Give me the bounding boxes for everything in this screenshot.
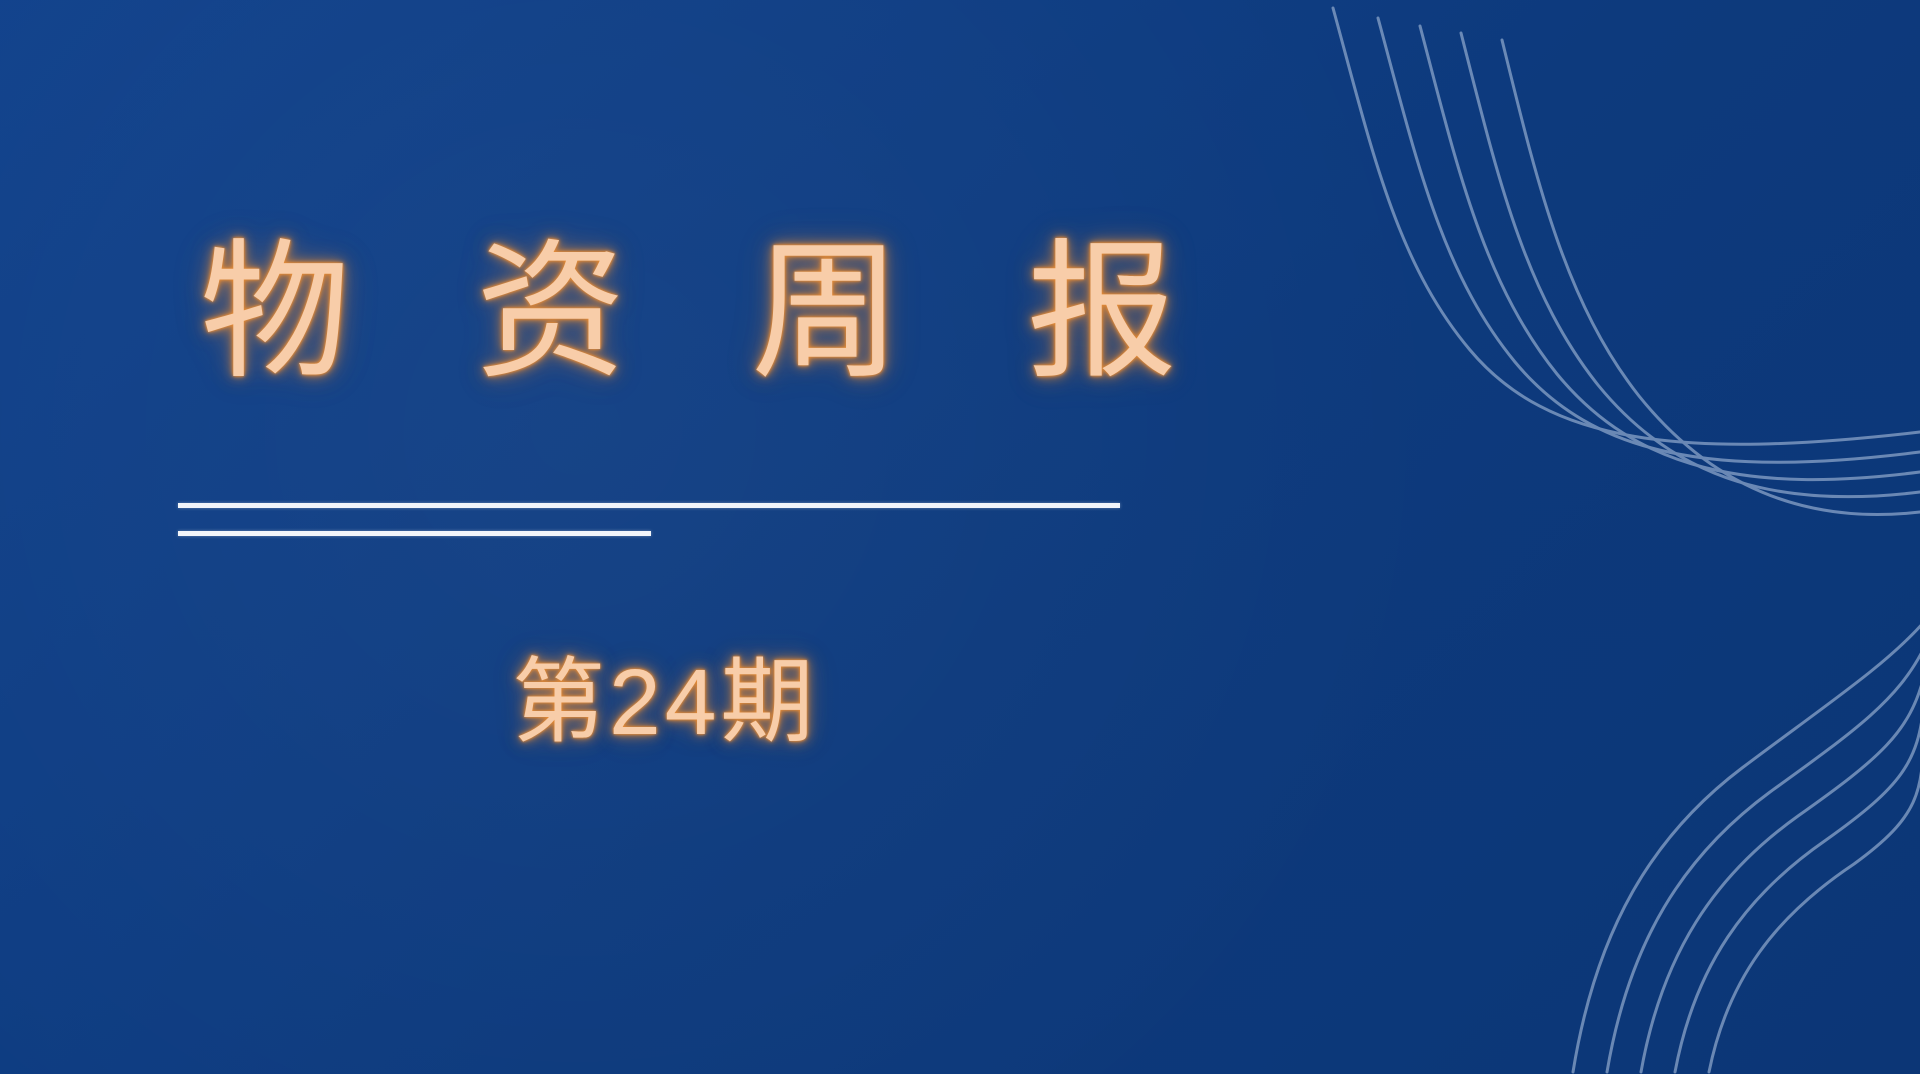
title-block: 物 资 周 报 [200, 236, 1200, 389]
issue-number-subtitle: 第24期 [512, 651, 817, 753]
swoosh-lines-top-right-icon [1333, 8, 1920, 515]
decorative-lines-layer [0, 0, 1920, 1074]
swoosh-lines-bottom-right-icon [1573, 622, 1920, 1072]
title-slide: 物 资 周 报 第24期 [0, 0, 1920, 1074]
title-underline-short [178, 531, 651, 536]
page-title: 物 资 周 报 [200, 236, 1200, 389]
title-underline-long [178, 503, 1120, 508]
slide-background [0, 0, 1920, 1074]
